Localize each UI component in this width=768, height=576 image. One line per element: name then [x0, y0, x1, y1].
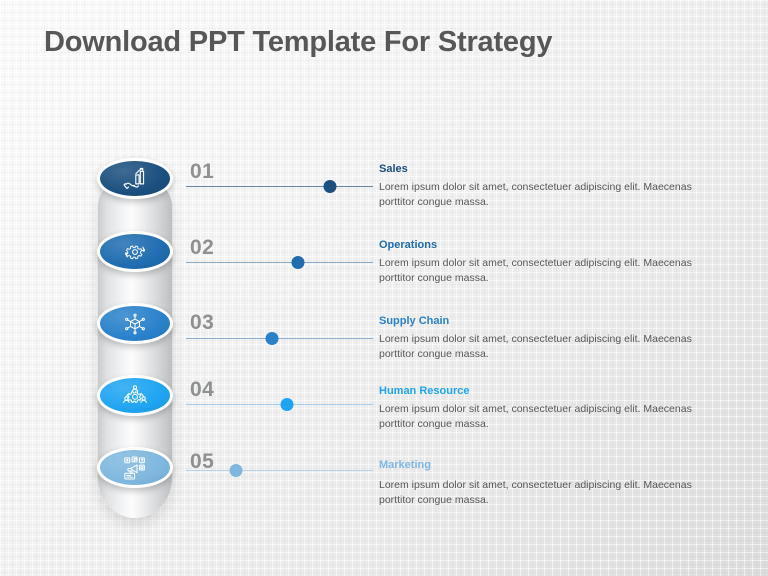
connector-bar [186, 262, 373, 263]
connector-bar [186, 338, 373, 339]
gear-refresh-icon [123, 240, 147, 264]
step-badge-02[interactable] [97, 231, 173, 272]
step-number-04: 04 [190, 378, 214, 402]
step-body-sales: Lorem ipsum dolor sit amet, consectetuer… [379, 180, 699, 209]
step-heading-operations: Operations [379, 239, 437, 251]
cube-network-icon [122, 311, 148, 337]
connector-line-05 [186, 470, 373, 471]
connector-bar [186, 186, 373, 187]
connector-dot-02[interactable] [292, 256, 305, 269]
step-heading-marketing: Marketing [379, 459, 431, 471]
page-title: Download PPT Template For Strategy [44, 26, 552, 59]
connector-dot-01[interactable] [323, 180, 336, 193]
connector-line-03 [186, 338, 373, 339]
step-badge-01[interactable] [97, 158, 173, 199]
hand-bar-chart-icon [122, 166, 148, 192]
team-gear-icon [122, 383, 148, 409]
connector-line-04 [186, 404, 373, 405]
step-number-03: 03 [190, 311, 214, 335]
step-heading-sales: Sales [379, 163, 408, 175]
step-number-02: 02 [190, 236, 214, 260]
connector-dot-03[interactable] [266, 332, 279, 345]
step-body-operations: Lorem ipsum dolor sit amet, consectetuer… [379, 256, 699, 285]
slide-canvas: Download PPT Template For Strategy 01Sal… [0, 0, 768, 576]
step-badge-03[interactable] [97, 303, 173, 344]
megaphone-social-icon [122, 455, 148, 481]
connector-line-01 [186, 186, 373, 187]
step-badge-04[interactable] [97, 375, 173, 416]
step-body-marketing: Lorem ipsum dolor sit amet, consectetuer… [379, 478, 699, 507]
connector-bar [186, 470, 373, 471]
connector-dot-05[interactable] [230, 464, 243, 477]
step-number-01: 01 [190, 160, 214, 184]
connector-dot-04[interactable] [280, 398, 293, 411]
step-heading-supply-chain: Supply Chain [379, 315, 449, 327]
connector-line-02 [186, 262, 373, 263]
step-heading-human-resource: Human Resource [379, 385, 469, 397]
step-badge-05[interactable] [97, 447, 173, 488]
step-body-supply-chain: Lorem ipsum dolor sit amet, consectetuer… [379, 332, 699, 361]
step-body-human-resource: Lorem ipsum dolor sit amet, consectetuer… [379, 402, 699, 431]
